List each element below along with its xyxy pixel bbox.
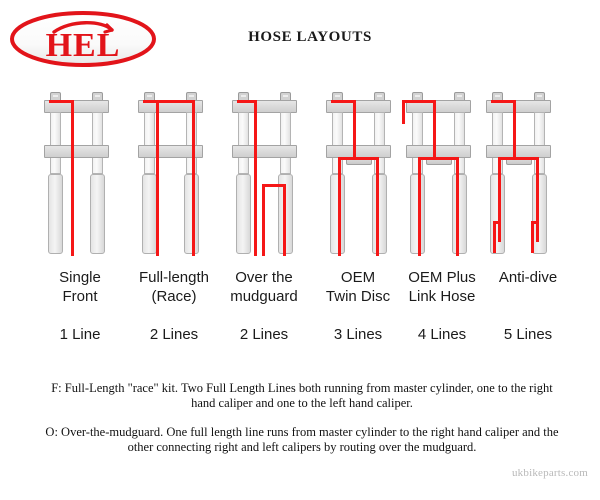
lower-yoke (232, 145, 297, 158)
hose-leg-run-right (192, 100, 195, 256)
hose-mudguard-left-riser (262, 184, 265, 256)
count-oem-plus-link-hose: 4 Lines (392, 326, 492, 343)
diagram-over-the-mudguard (224, 88, 324, 268)
hose-caliper-run-right (376, 157, 379, 256)
hose-caliper-run-left (498, 157, 501, 242)
label-line-1: Anti-dive (478, 268, 578, 287)
hose-top-run (402, 100, 436, 103)
lower-leg-left (142, 174, 157, 254)
hel-oval-logo-icon: HEL (8, 10, 158, 68)
lower-leg-right (90, 174, 105, 254)
diagram-anti-dive (478, 88, 578, 268)
label-line-2: Link Hose (392, 287, 492, 306)
hose-antidive-left (493, 221, 496, 253)
svg-text:HEL: HEL (46, 27, 121, 64)
lower-leg-left (236, 174, 251, 254)
stanchion-left (238, 112, 249, 174)
label-anti-dive: Anti-dive (478, 268, 578, 287)
watermark: ukbikeparts.com (512, 467, 588, 479)
diagram-full-length-race (130, 88, 230, 268)
hose-to-splitter (353, 100, 356, 160)
footnote-over-the-mudguard: O: Over-the-mudguard. One full length li… (44, 425, 560, 455)
stanchion-right (92, 112, 103, 174)
hose-antidive-right (531, 221, 534, 253)
label-line-1: Full-length (124, 268, 224, 287)
hose-to-splitter (513, 100, 516, 160)
hel-logo: HEL (8, 10, 158, 68)
diagram-single-front (36, 88, 136, 268)
count-over-the-mudguard: 2 Lines (214, 326, 314, 343)
hose-link-hose (402, 100, 405, 124)
label-full-length-race: Full-length (Race) (124, 268, 224, 306)
count-anti-dive: 5 Lines (478, 326, 578, 343)
label-line-1: OEM Plus (392, 268, 492, 287)
lower-leg-right (372, 174, 387, 254)
hose-caliper-run-right (456, 157, 459, 256)
label-line-1: Single (30, 268, 130, 287)
diagram-strip (0, 88, 600, 268)
count-full-length-race: 2 Lines (124, 326, 224, 343)
hose-to-splitter (433, 100, 436, 160)
hose-leg-run-left (254, 100, 257, 256)
lower-yoke (44, 145, 109, 158)
hose-caliper-run-left (338, 157, 341, 256)
footnote-full-length: F: Full-Length "race" kit. Two Full Leng… (44, 381, 560, 411)
stanchion-left (144, 112, 155, 174)
lower-leg-right (452, 174, 467, 254)
hose-leg-run (71, 100, 74, 256)
label-line-2: (Race) (124, 287, 224, 306)
line-count-row: 1 Line 2 Lines 2 Lines 3 Lines 4 Lines 5… (0, 326, 600, 350)
page-title: HOSE LAYOUTS (210, 29, 410, 46)
hose-mudguard-right-riser (283, 184, 286, 256)
stanchion-left (50, 112, 61, 174)
footnotes: F: Full-Length "race" kit. Two Full Leng… (44, 381, 560, 469)
diagram-name-row: Single Front Full-length (Race) Over the… (0, 268, 600, 320)
hose-caliper-run-left (418, 157, 421, 256)
hose-leg-run-left (156, 100, 159, 256)
lower-leg-left (48, 174, 63, 254)
label-oem-plus-link-hose: OEM Plus Link Hose (392, 268, 492, 306)
stanchion-right (280, 112, 291, 174)
lower-leg-right (532, 174, 547, 254)
label-over-the-mudguard: Over the mudguard (214, 268, 314, 306)
label-line-2: Front (30, 287, 130, 306)
hose-layouts-page: HEL HOSE LAYOUTS (0, 0, 600, 500)
hose-caliper-run-right (536, 157, 539, 242)
count-single-front: 1 Line (30, 326, 130, 343)
hose-top-run-right (159, 100, 195, 103)
label-line-2: mudguard (214, 287, 314, 306)
label-line-1: Over the (214, 268, 314, 287)
label-single-front: Single Front (30, 268, 130, 306)
